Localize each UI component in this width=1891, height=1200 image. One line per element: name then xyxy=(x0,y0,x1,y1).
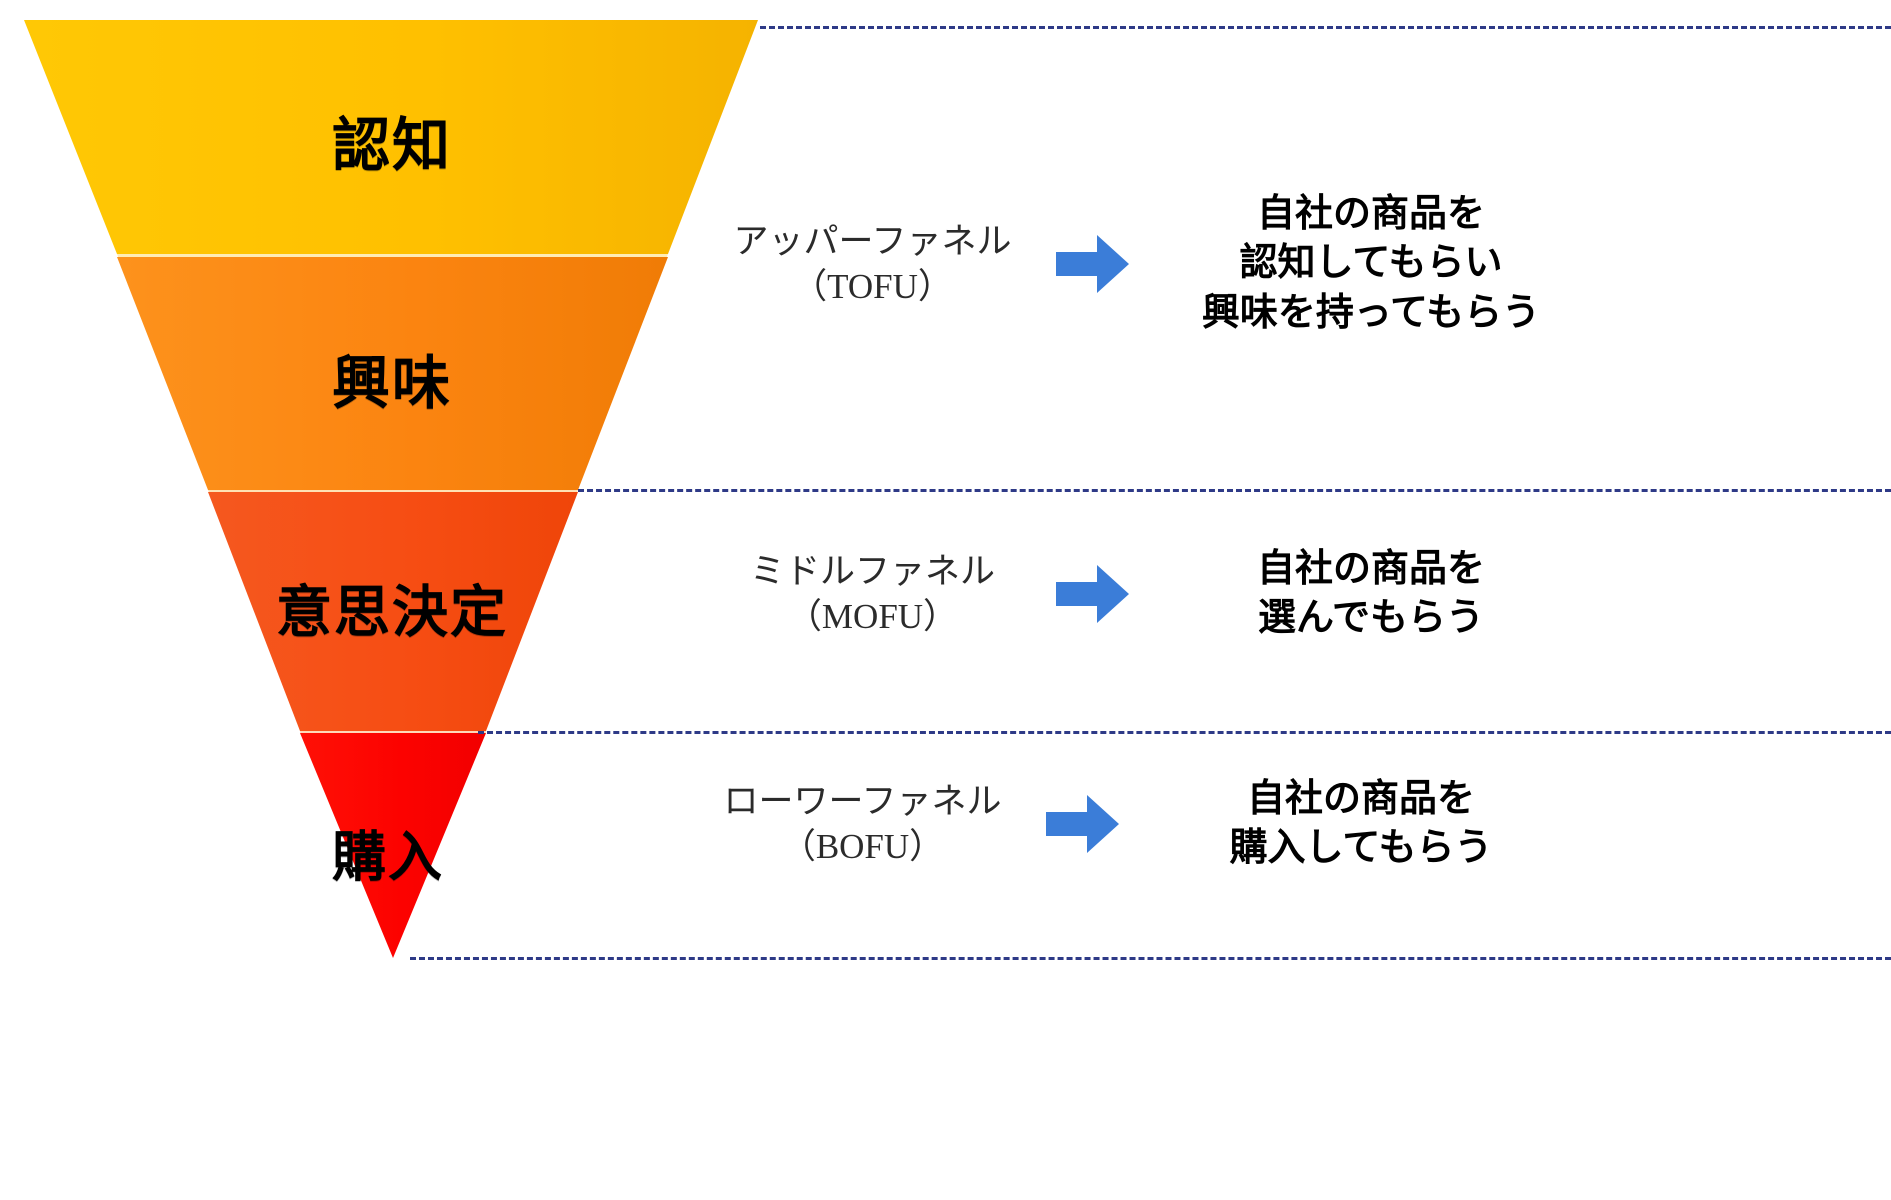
tier-name-upper-funnel: アッパーファネル （TOFU） xyxy=(700,219,1045,310)
funnel-stage-label-purchase: 購入 xyxy=(332,813,444,892)
divider-line-tofu-mofu xyxy=(578,489,1891,492)
divider-line-bottom xyxy=(410,957,1891,960)
tier-name-lower-funnel: ローワーファネル （BOFU） xyxy=(690,779,1035,870)
right-arrow-icon xyxy=(1035,793,1131,855)
funnel-diagram-canvas: 認知 興味 意思決定 購入 アッパーファネル （TOFU） 自社の商品を 認知し… xyxy=(0,0,1891,1200)
tier-row-lower-funnel: ローワーファネル （BOFU） 自社の商品を 購入してもらう xyxy=(690,775,1591,874)
tier-row-middle-funnel: ミドルファネル （MOFU） 自社の商品を 選んでもらう xyxy=(700,545,1601,644)
tier-row-upper-funnel: アッパーファネル （TOFU） 自社の商品を 認知してもらい 興味を持ってもらう xyxy=(700,190,1601,338)
tier-description-upper-funnel: 自社の商品を 認知してもらい 興味を持ってもらう xyxy=(1141,190,1601,338)
tier-description-middle-funnel: 自社の商品を 選んでもらう xyxy=(1141,545,1601,644)
tier-name-middle-funnel: ミドルファネル （MOFU） xyxy=(700,549,1045,640)
funnel-stage-label-awareness: 認知 xyxy=(332,98,452,182)
right-arrow-icon xyxy=(1045,233,1141,295)
divider-line-top xyxy=(760,26,1891,29)
divider-line-mofu-bofu xyxy=(478,731,1891,734)
tier-description-lower-funnel: 自社の商品を 購入してもらう xyxy=(1131,775,1591,874)
funnel-stage-label-decision: 意思決定 xyxy=(276,568,508,649)
funnel-stage-label-interest: 興味 xyxy=(332,336,452,420)
right-arrow-icon xyxy=(1045,563,1141,625)
